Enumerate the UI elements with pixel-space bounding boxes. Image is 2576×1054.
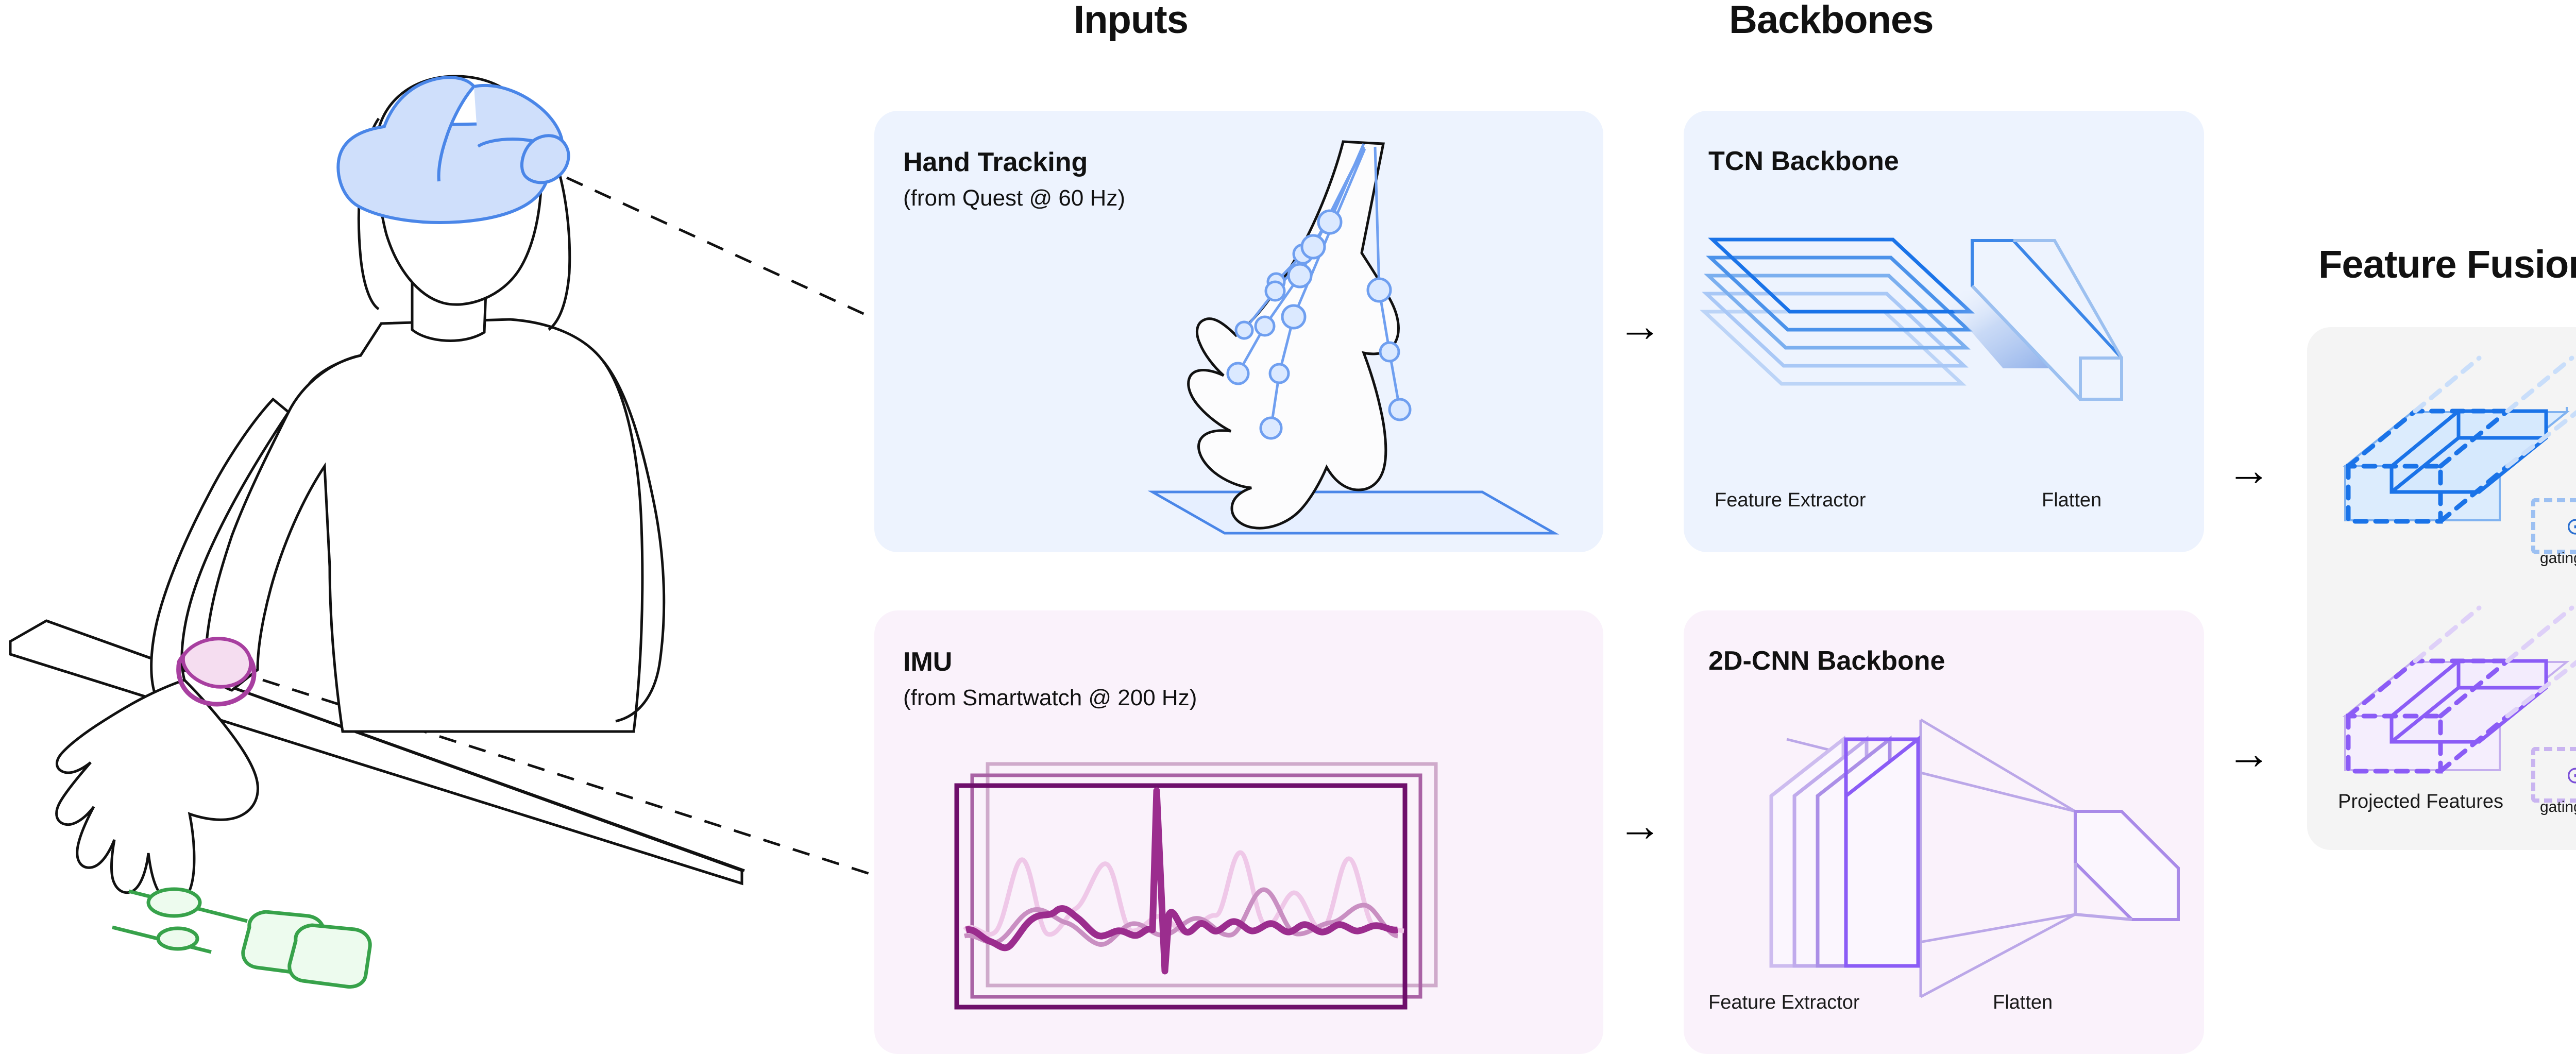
feature-fusion-panel[interactable]: ⊙ W gating weights ⊙ W gating	[2307, 327, 2576, 850]
imu-waveform-icon	[936, 760, 1482, 1028]
gating-weights-label-purple: gating weights	[2540, 798, 2576, 816]
table-ui-targets	[112, 889, 370, 987]
cnn-diagram-icon	[1715, 708, 2178, 997]
gating-symbol-purple: ⊙	[2566, 763, 2576, 787]
cnn-caption-flatten: Flatten	[1993, 992, 2053, 1014]
hand-skeleton-icon	[1122, 121, 1585, 549]
input-card-hand-tracking[interactable]: Hand Tracking (from Quest @ 60 Hz)	[874, 111, 1603, 552]
flow-arrow-cnn-to-fusion: →	[2227, 732, 2271, 776]
tcn-caption-flatten: Flatten	[2042, 489, 2102, 512]
person-body	[206, 319, 664, 732]
gating-symbol-blue: ⊙	[2566, 514, 2576, 538]
section-title-fusion: Feature Fusion	[2318, 242, 2576, 287]
hand-tracking-subtitle: (from Quest @ 60 Hz)	[903, 185, 1125, 211]
gating-weights-label-blue: gating weights	[2540, 550, 2576, 567]
input-card-imu[interactable]: IMU (from Smartwatch @ 200 Hz)	[874, 610, 1603, 1054]
tcn-caption-feature-extractor: Feature Extractor	[1715, 489, 1866, 512]
hand-tracking-title: Hand Tracking	[903, 147, 1088, 178]
backbone-card-tcn[interactable]: TCN Backbone	[1684, 111, 2204, 552]
imu-subtitle: (from Smartwatch @ 200 Hz)	[903, 685, 1197, 711]
gating-weights-blue-badge: ⊙ W	[2531, 498, 2576, 554]
scene-illustration	[0, 0, 876, 1054]
flow-arrow-imu-to-cnn: →	[1618, 804, 1662, 848]
flow-arrow-hand-to-tcn: →	[1618, 304, 1662, 348]
gating-weights-purple-badge: ⊙ W	[2531, 747, 2576, 803]
flow-arrow-tcn-to-fusion: →	[2227, 448, 2271, 492]
imu-title: IMU	[903, 647, 952, 677]
cnn-caption-feature-extractor: Feature Extractor	[1708, 992, 1860, 1014]
fusion-caption-projected-features: Projected Features	[2338, 791, 2503, 813]
tcn-diagram-icon	[1694, 229, 2194, 466]
cnn-backbone-title: 2D-CNN Backbone	[1708, 645, 1945, 676]
backbone-card-2dcnn[interactable]: 2D-CNN Backbone	[1684, 610, 2204, 1054]
section-title-inputs: Inputs	[1074, 0, 1188, 42]
section-title-backbones: Backbones	[1729, 0, 1934, 42]
tcn-backbone-title: TCN Backbone	[1708, 146, 1899, 177]
vr-headset-icon	[338, 77, 568, 223]
